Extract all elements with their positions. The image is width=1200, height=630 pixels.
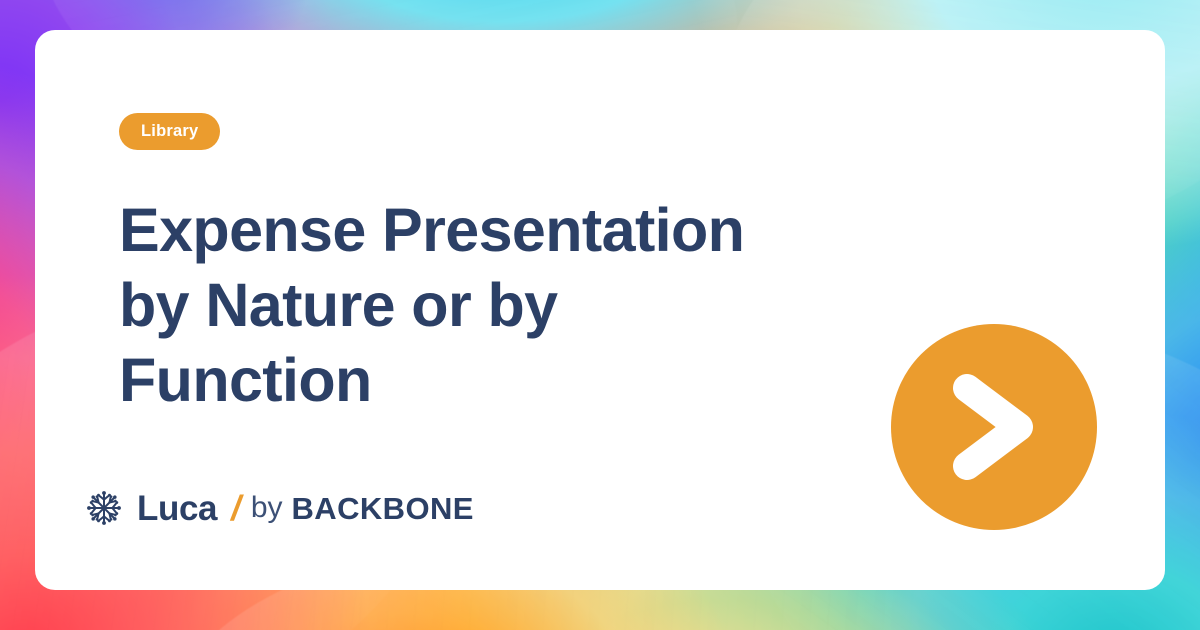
- chevron-right-icon: [931, 364, 1057, 490]
- brand-name: Luca: [137, 491, 217, 526]
- page-title-line-2: by Nature or by: [119, 268, 819, 343]
- category-badge[interactable]: Library: [119, 113, 220, 150]
- gradient-background: Library Expense Presentation by Nature o…: [0, 0, 1200, 630]
- brand-company: BACKBONE: [292, 493, 474, 524]
- brand-lockup: Luca / by BACKBONE: [84, 484, 474, 532]
- snowflake-icon: [84, 488, 124, 528]
- page-title: Expense Presentation by Nature or by Fun…: [119, 193, 819, 418]
- page-title-line-3: Function: [119, 343, 819, 418]
- chevron-right-button[interactable]: [891, 324, 1097, 530]
- page-title-line-1: Expense Presentation: [119, 193, 819, 268]
- brand-by-label: by: [251, 493, 283, 523]
- content-card: Library Expense Presentation by Nature o…: [35, 30, 1165, 590]
- category-badge-label: Library: [141, 122, 198, 141]
- brand-separator: /: [231, 491, 241, 526]
